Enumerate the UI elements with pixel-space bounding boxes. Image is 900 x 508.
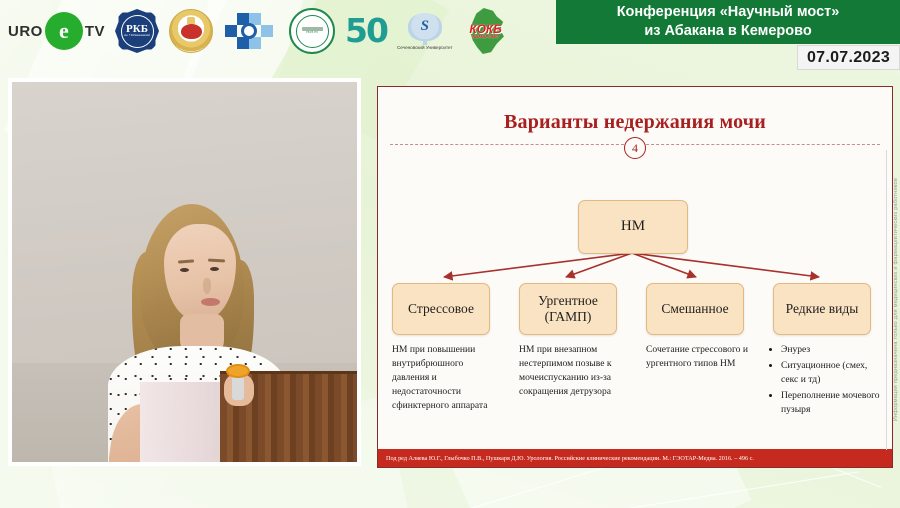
description-stress: НМ при повышении внутрибрюшного давления…	[392, 343, 496, 413]
sechenov-university-logo: S Сеченовский Университет	[397, 13, 453, 50]
green-seal-caption: ГБУЗ РХ	[306, 31, 318, 34]
speaker-lips	[201, 298, 220, 306]
conference-title-line-2: из Абакана в Кемерово	[644, 22, 811, 41]
broadcast-screen: URO e TV РКБ им. Г.Я.Ремишевской Г	[0, 0, 900, 508]
cross-block	[249, 37, 261, 49]
rare-types-list: Энурез Ситуационное (смех, секс и тд) Пе…	[768, 343, 886, 417]
microphone-body	[232, 376, 244, 400]
fifty-anniversary-mark: 50	[345, 17, 387, 45]
diagram-node-mixed: Смешанное	[646, 283, 744, 335]
citation-text: Под ред Аляева Ю.Г., Глыбочко П.В., Пушк…	[386, 455, 754, 462]
speaker-face	[164, 224, 236, 320]
diagram-node-root: НМ	[578, 200, 688, 254]
conference-date: 07.07.2023	[807, 49, 890, 67]
presentation-slide[interactable]: Варианты недержания мочи 4 НМ Стрессовое	[377, 86, 893, 468]
uro-tv-logo-right-text: TV	[85, 23, 105, 40]
fifty-anniversary-logo: 50	[345, 17, 387, 45]
speaker-nose	[203, 278, 211, 294]
rkb-caption: им. Г.Я.Ремишевской	[124, 35, 150, 38]
slide-citation-bar: Под ред Аляева Ю.Г., Глыбочко П.В., Пушк…	[378, 449, 892, 467]
description-rare: Энурез Ситуационное (смех, секс и тд) Пе…	[768, 343, 886, 419]
description-mixed: Сочетание стрессового и ургентного типов…	[646, 343, 752, 371]
sechenov-monogram: S	[421, 18, 429, 35]
speaker-video-panel[interactable]	[8, 78, 361, 466]
kokb-text-group: КОКБ КЕМЕРОВО	[469, 23, 501, 40]
disclaimer-text: Информация предназначена только для меди…	[893, 178, 899, 421]
background-line	[562, 472, 858, 508]
conference-date-badge: 07.07.2023	[797, 45, 900, 70]
speaker-video-frame	[12, 82, 357, 462]
disclaimer-divider	[886, 150, 887, 450]
tree-icon: S	[408, 13, 442, 41]
incontinence-type-diagram: НМ Стрессовое Ургентное (ГАМП) Смешанное…	[378, 87, 892, 467]
speaker-eye	[180, 268, 189, 272]
disclaimer-sidebar: Информация предназначена только для меди…	[893, 150, 899, 450]
rkb-seal-logo: РКБ им. Г.Я.Ремишевской	[115, 9, 159, 53]
green-seal-inner: ГБУЗ РХ	[296, 15, 329, 48]
list-item: Ситуационное (смех, секс и тд)	[781, 359, 886, 387]
kokb-city: КЕМЕРОВО	[469, 35, 501, 40]
uro-tv-logo-left-text: URO	[8, 23, 43, 40]
conference-title-line-1: Конференция «Научный мост»	[617, 3, 840, 22]
list-item: Переполнение мочевого пузыря	[781, 389, 886, 417]
uro-tv-leaf-icon: e	[45, 12, 83, 50]
cross-block	[225, 25, 237, 37]
microphone-icon	[226, 364, 250, 378]
blue-cross-logo	[223, 11, 279, 51]
diagram-node-stress: Стрессовое	[392, 283, 490, 335]
cross-center-ring	[241, 23, 257, 39]
kokb-abbr: КОКБ	[469, 23, 501, 35]
description-urgent: НМ при внезапном нестерпимом позыве к мо…	[519, 343, 623, 399]
uro-tv-logo: URO e TV	[8, 12, 105, 50]
list-item: Энурез	[781, 343, 886, 357]
diagram-node-urgent: Ургентное (ГАМП)	[519, 283, 617, 335]
diagram-node-rare: Редкие виды	[773, 283, 871, 335]
kokb-kemerovo-logo: КОКБ КЕМЕРОВО	[463, 8, 509, 54]
cross-block	[261, 25, 273, 37]
khakassia-coat-of-arms-icon	[169, 9, 213, 53]
coat-of-arms-shield	[181, 24, 202, 39]
conference-banner: Конференция «Научный мост» из Абакана в …	[556, 0, 900, 44]
sechenov-caption: Сеченовский Университет	[397, 45, 453, 50]
green-seal-logo: ГБУЗ РХ	[289, 8, 335, 54]
rkb-seal-inner: РКБ им. Г.Я.Ремишевской	[121, 15, 154, 48]
speaker-eye	[210, 267, 219, 271]
